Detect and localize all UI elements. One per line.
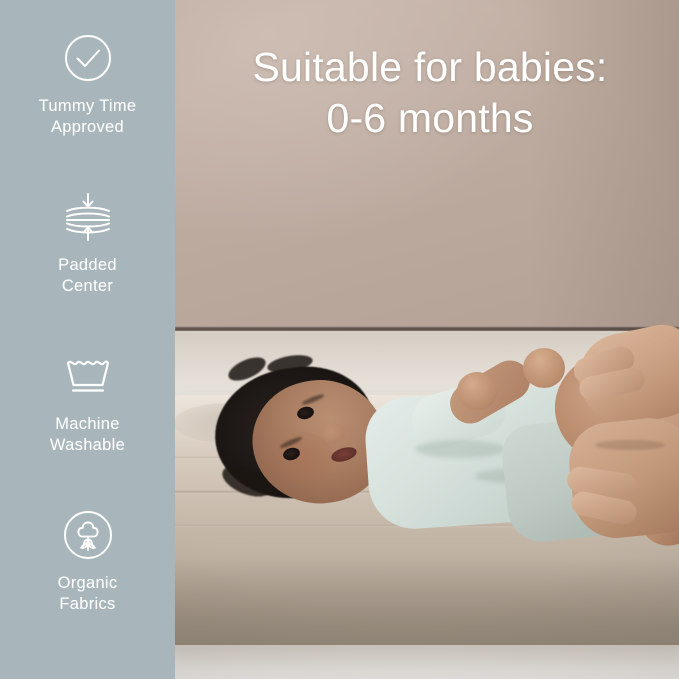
feature-label: Organic Fabrics — [58, 573, 118, 615]
headline-line-1: Suitable for babies: — [195, 42, 665, 93]
feature-label: Machine Washable — [50, 414, 125, 456]
mat-shading — [175, 555, 679, 645]
feature-label: Tummy Time Approved — [39, 96, 137, 138]
adult-knuckle-shadow — [595, 440, 665, 450]
feature-item-tummy-time-approved: Tummy Time Approved — [0, 0, 175, 159]
padded-cushion-icon — [60, 189, 116, 245]
product-feature-graphic: Suitable for babies: 0-6 months Tummy Ti… — [0, 0, 679, 679]
feature-label: Padded Center — [58, 255, 117, 297]
feature-item-padded-center: Padded Center — [0, 159, 175, 318]
baby-hand — [457, 372, 497, 410]
feature-item-machine-washable: Machine Washable — [0, 318, 175, 477]
headline-line-2: 0-6 months — [195, 93, 665, 144]
cotton-boll-circle-icon — [60, 507, 116, 563]
baby-hand — [523, 348, 565, 388]
baby-cheek — [271, 432, 333, 484]
feature-item-organic-fabrics: Organic Fabrics — [0, 477, 175, 636]
check-circle-icon — [60, 30, 116, 86]
page-title: Suitable for babies: 0-6 months — [195, 42, 665, 144]
onesie-fold — [415, 440, 505, 458]
machine-wash-tub-icon — [60, 348, 116, 404]
feature-rail: Tummy Time Approved Padded Center — [0, 0, 175, 679]
